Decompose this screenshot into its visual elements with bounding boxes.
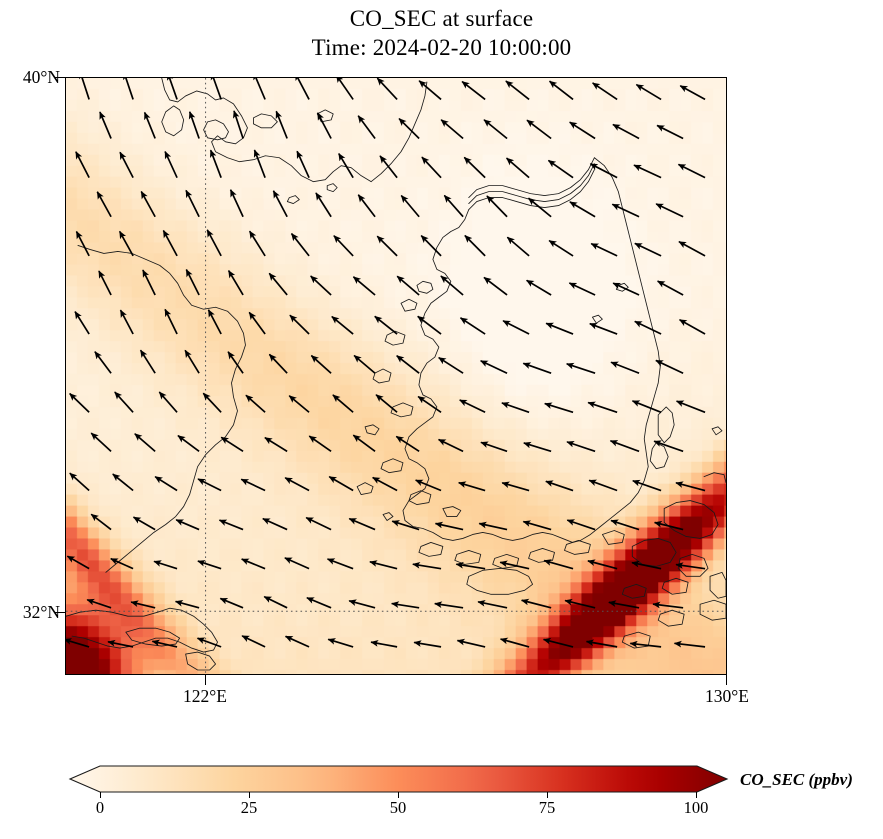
colorbar-gradient [70, 766, 727, 792]
tickmark-lon-122 [205, 675, 206, 685]
wind-vector [657, 125, 683, 138]
wind-vector [286, 636, 310, 647]
wind-vector [465, 235, 485, 255]
wind-vector [249, 312, 265, 334]
wind-vector [185, 350, 199, 373]
wind-vector [178, 436, 199, 452]
wind-vector [501, 639, 530, 647]
wind-vector [307, 598, 331, 608]
wind-vector [502, 483, 529, 491]
wind-vector [421, 236, 441, 256]
wind-vector [292, 234, 310, 256]
wind-vector [141, 350, 156, 373]
wind-vector [212, 78, 222, 99]
wind-vector [198, 638, 222, 647]
wind-vector [269, 273, 287, 295]
wind-vector [487, 196, 507, 217]
wind-vector [590, 164, 617, 178]
wind-vector [484, 277, 507, 295]
wind-vector [656, 204, 683, 217]
wind-vector [328, 639, 353, 647]
wind-vector [70, 473, 89, 490]
wind-vector [76, 152, 89, 178]
wind-vector [464, 157, 485, 177]
wind-vector [588, 561, 617, 569]
wind-vector [523, 363, 551, 373]
wind-vector [66, 639, 89, 646]
wind-vector [120, 231, 133, 256]
wind-vector [457, 641, 485, 647]
wind-vector [145, 112, 155, 138]
wind-vector [176, 601, 200, 607]
wind-vector [550, 81, 574, 99]
wind-vector [229, 271, 243, 295]
wind-vector [241, 479, 265, 490]
wind-vector [589, 480, 617, 490]
wind-vector [679, 242, 705, 256]
wind-vector [630, 643, 661, 646]
wind-vector [333, 395, 353, 412]
wind-vector [203, 393, 221, 412]
wind-vector [418, 316, 441, 334]
wind-vector [377, 236, 397, 256]
wind-vector [152, 641, 177, 647]
wind-vector [609, 602, 639, 607]
wind-vector [676, 483, 705, 491]
wind-vector [590, 324, 617, 334]
wind-vector [435, 524, 463, 530]
wind-vector [484, 120, 507, 139]
wind-vector [207, 230, 221, 256]
wind-vector [524, 443, 551, 451]
wind-vector [198, 479, 221, 491]
wind-vector [70, 394, 89, 413]
wind-vector [588, 403, 617, 413]
colorbar-label-25: 25 [219, 798, 279, 818]
wind-vector [636, 85, 661, 100]
wind-vector [297, 151, 309, 177]
wind-vector [506, 81, 529, 99]
axis-label-lat-40: 40°N [0, 67, 60, 88]
wind-vector [97, 192, 111, 217]
wind-vector [441, 120, 463, 139]
wind-vector [677, 401, 706, 412]
wind-vector [221, 437, 243, 451]
wind-vector [99, 271, 111, 295]
wind-vector [507, 237, 529, 256]
wind-vector [401, 196, 419, 217]
wind-vector [124, 78, 133, 99]
wind-vector [113, 474, 133, 490]
wind-vector [255, 150, 266, 178]
wind-vector [371, 642, 397, 647]
wind-vector [332, 316, 353, 334]
wind-vector [546, 323, 573, 334]
wind-vector [570, 202, 595, 217]
wind-vector [678, 164, 705, 177]
wind-vector [318, 113, 331, 139]
wind-vector [250, 231, 265, 256]
wind-vector [567, 442, 595, 451]
wind-vector [316, 193, 331, 217]
wind-vector [481, 442, 507, 451]
wind-vector [459, 483, 485, 491]
wind-vector [75, 312, 89, 334]
wind-vector [655, 523, 684, 530]
wind-vector [133, 517, 155, 529]
colorbar[interactable]: 0255075100 CO_SEC (ppbv) [0, 752, 883, 832]
wind-vector [418, 397, 441, 413]
title-line-time: Time: 2024-02-20 10:00:00 [0, 33, 883, 62]
wind-vector [545, 404, 573, 413]
wind-vector [220, 598, 243, 607]
wind-vector [91, 433, 111, 451]
title-line-variable: CO_SEC at surface [0, 4, 883, 33]
wind-vector [546, 481, 573, 490]
wind-vector [544, 561, 573, 569]
wind-vector [441, 276, 463, 295]
wind-vector [353, 435, 375, 451]
wind-vector [635, 243, 661, 256]
wind-vector [76, 231, 89, 255]
axis-label-lon-122: 122°E [145, 686, 265, 707]
figure-title: CO_SEC at surface Time: 2024-02-20 10:00… [0, 4, 883, 62]
colorbar-label-0: 0 [70, 798, 130, 818]
wind-vector [358, 195, 375, 217]
wind-vector [456, 564, 485, 568]
wind-vector [593, 83, 618, 99]
wind-vector [522, 600, 552, 608]
wind-vector [186, 190, 199, 216]
wind-vector [565, 601, 595, 608]
wind-vector [373, 477, 397, 490]
wind-vector [544, 639, 574, 646]
wind-vector [653, 604, 683, 608]
wind-vector [246, 395, 265, 412]
wind-vector [396, 436, 419, 451]
wind-vector [358, 116, 375, 139]
colorbar-title: CO_SEC (ppbv) [740, 770, 853, 790]
wind-vector [656, 360, 683, 373]
axis-label-lat-32: 32°N [0, 602, 60, 623]
wind-vector [613, 124, 639, 138]
wind-vector [176, 520, 199, 530]
wind-vector [80, 78, 89, 99]
wind-vector [211, 150, 221, 178]
wind-vector [309, 436, 331, 451]
wind-vector [329, 477, 353, 491]
wind-vector [242, 636, 265, 647]
wind-vector [569, 283, 595, 295]
wind-vector [503, 321, 529, 334]
wind-vector [155, 477, 177, 491]
wind-vector [377, 78, 397, 99]
wind-vector [154, 561, 177, 568]
wind-vector [502, 403, 529, 412]
wind-vector [392, 521, 419, 529]
wind-vector [328, 559, 354, 569]
wind-vector [91, 514, 111, 529]
wind-vector [254, 78, 265, 99]
wind-vector [354, 355, 375, 373]
wind-vector [380, 156, 397, 178]
wind-vector [462, 82, 485, 100]
wind-vector [336, 78, 353, 99]
wind-vector [100, 112, 111, 139]
tickmark-lon-130 [726, 675, 727, 685]
wind-vector [611, 521, 639, 530]
wind-vector [567, 364, 595, 373]
wind-vector [439, 358, 463, 374]
wind-vector [635, 321, 661, 334]
wind-vector [632, 563, 661, 569]
wind-vector [234, 111, 243, 139]
wind-vector [507, 158, 530, 178]
wind-vector [632, 401, 661, 412]
wind-vector [186, 270, 199, 295]
wind-vector [481, 361, 507, 373]
wind-vector [587, 642, 618, 647]
axis-label-lon-130: 130°E [667, 686, 787, 707]
wind-vector [527, 280, 552, 295]
wind-vector [633, 481, 661, 491]
wind-vector [349, 601, 375, 608]
map-plot-area[interactable] [65, 77, 727, 675]
wind-vector [306, 518, 331, 530]
wind-vector [108, 642, 133, 647]
wind-vector [528, 198, 551, 217]
wind-vector [548, 160, 573, 177]
wind-vector [413, 564, 441, 568]
wind-vector [121, 310, 134, 334]
wind-vector [339, 154, 353, 178]
wind-vector [165, 152, 177, 178]
wind-vector [612, 204, 639, 216]
wind-vector [416, 480, 441, 490]
wind-vector [353, 277, 375, 295]
wind-vector [276, 111, 287, 138]
wind-vector [168, 78, 177, 99]
wind-vector [190, 112, 199, 139]
wind-vector [375, 316, 397, 334]
wind-vector [349, 519, 375, 530]
wind-vector [231, 190, 243, 217]
wind-vector [228, 352, 243, 373]
wind-vector [658, 281, 684, 295]
wind-vector [263, 519, 287, 530]
wind-vector [208, 310, 221, 334]
wind-vector [527, 120, 551, 138]
colorbar-label-50: 50 [368, 798, 428, 818]
wind-vector [613, 283, 639, 295]
colorbar-label-100: 100 [666, 798, 726, 818]
wind-vector [285, 558, 309, 569]
wind-vector [370, 562, 397, 569]
wind-vector [198, 561, 221, 569]
wind-vector [676, 565, 705, 569]
wind-vector [479, 524, 507, 530]
wind-vector [591, 244, 617, 256]
wind-vector [242, 559, 265, 569]
wind-vector [295, 78, 309, 99]
wind-vector [289, 396, 309, 413]
wind-vector [610, 441, 639, 452]
wind-vector [435, 604, 463, 608]
wind-vector [611, 362, 639, 373]
wind-vector [334, 236, 353, 256]
wind-vector [549, 241, 573, 256]
wind-vector [159, 392, 177, 412]
wind-vector [654, 441, 683, 451]
wind-vector [570, 122, 595, 138]
wind-vector [392, 604, 419, 608]
wind-vector [419, 81, 441, 100]
wind-vector [131, 602, 155, 608]
wind-vector [311, 276, 331, 295]
wind-vector [444, 195, 463, 216]
wind-vector [163, 230, 177, 255]
wind-vector [67, 556, 89, 568]
wind-vector [165, 309, 177, 334]
colorbar-label-75: 75 [517, 798, 577, 818]
wind-vector [397, 276, 419, 295]
wind-vector [422, 157, 441, 178]
wind-vector [399, 119, 419, 139]
wind-vector [461, 318, 486, 334]
wind-quiver-overlay [66, 78, 726, 674]
wind-vector [680, 320, 706, 334]
wind-vector [439, 439, 464, 451]
wind-vector [273, 191, 287, 217]
wind-vector [680, 86, 705, 100]
wind-vector [87, 600, 111, 608]
wind-vector [269, 354, 287, 373]
wind-vector [634, 165, 661, 178]
wind-vector [414, 642, 441, 646]
wind-vector [523, 522, 551, 530]
wind-vector [265, 438, 287, 452]
wind-vector [460, 400, 485, 412]
wind-vector [264, 597, 287, 608]
wind-vector [290, 315, 309, 334]
wind-vector [111, 559, 133, 569]
wind-vector [115, 392, 133, 412]
wind-vector [120, 152, 133, 177]
wind-vector [143, 270, 155, 295]
wind-vector [674, 643, 705, 647]
wind-vector [500, 562, 529, 568]
wind-vector [478, 602, 507, 608]
wind-vector [376, 395, 397, 413]
wind-vector [219, 520, 243, 529]
wind-vector [285, 478, 309, 491]
wind-vector [141, 192, 155, 217]
wind-vector [397, 356, 419, 374]
wind-vector [95, 352, 111, 374]
wind-vector [311, 356, 331, 374]
wind-vector [567, 520, 595, 529]
wind-vector [135, 434, 155, 452]
